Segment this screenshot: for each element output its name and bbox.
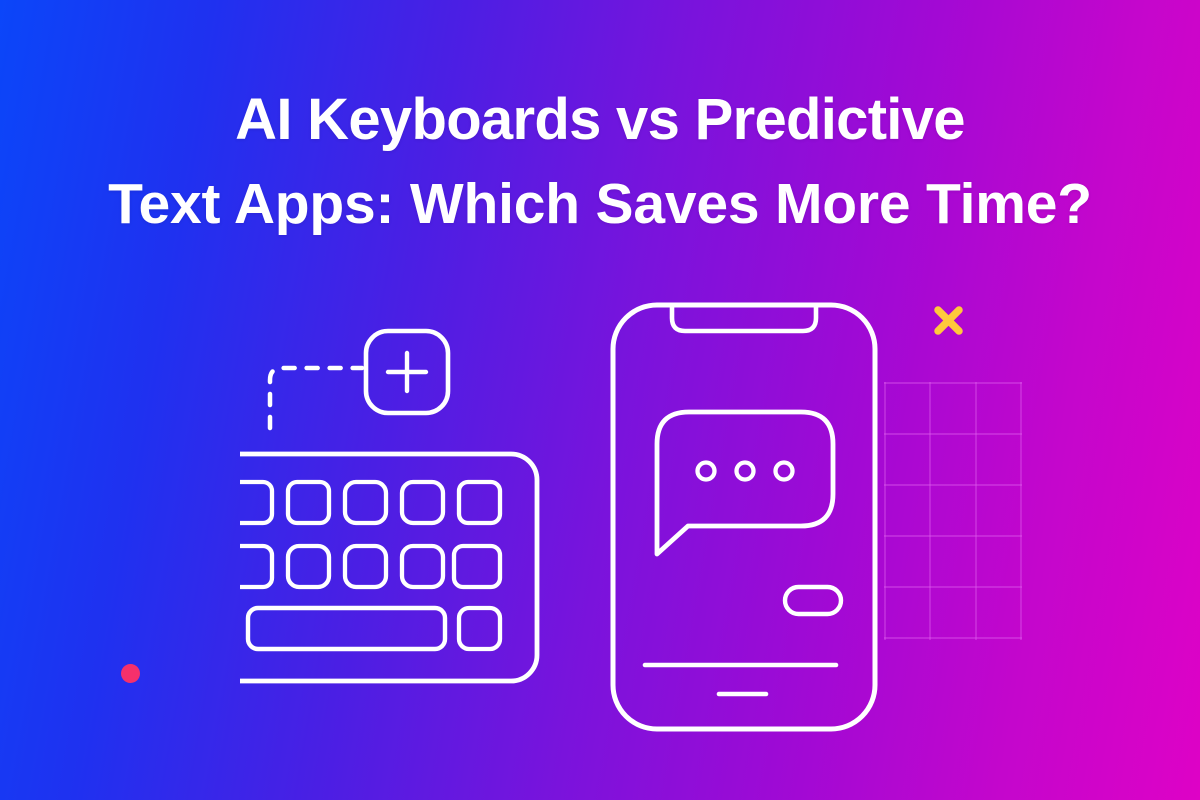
dot-accent-decoration [121, 664, 140, 683]
speech-bubble [657, 412, 833, 554]
keyboard-row-1 [240, 482, 500, 523]
cross-mark-icon [932, 304, 965, 337]
keyboard-row-2 [240, 546, 500, 587]
pill-button [785, 587, 841, 614]
page-title-line-2: Text Apps: Which Saves More Time? [0, 162, 1200, 246]
banner-canvas: AI Keyboards vs Predictive Text Apps: Wh… [0, 0, 1200, 800]
enter-key [459, 608, 500, 649]
dashed-connector-line [270, 368, 362, 428]
phone-notch [672, 305, 816, 331]
phone-frame [613, 305, 875, 729]
grid-pattern-decoration [884, 382, 1022, 640]
smartphone-illustration [600, 292, 890, 742]
spacebar-key [248, 608, 445, 649]
page-title: AI Keyboards vs Predictive Text Apps: Wh… [0, 78, 1200, 246]
typing-dots [698, 463, 793, 480]
keyboard-body [240, 454, 537, 681]
add-key-button [366, 331, 448, 413]
keyboard-row-3 [248, 608, 500, 649]
page-title-line-1: AI Keyboards vs Predictive [0, 78, 1200, 162]
keyboard-illustration [240, 320, 550, 690]
